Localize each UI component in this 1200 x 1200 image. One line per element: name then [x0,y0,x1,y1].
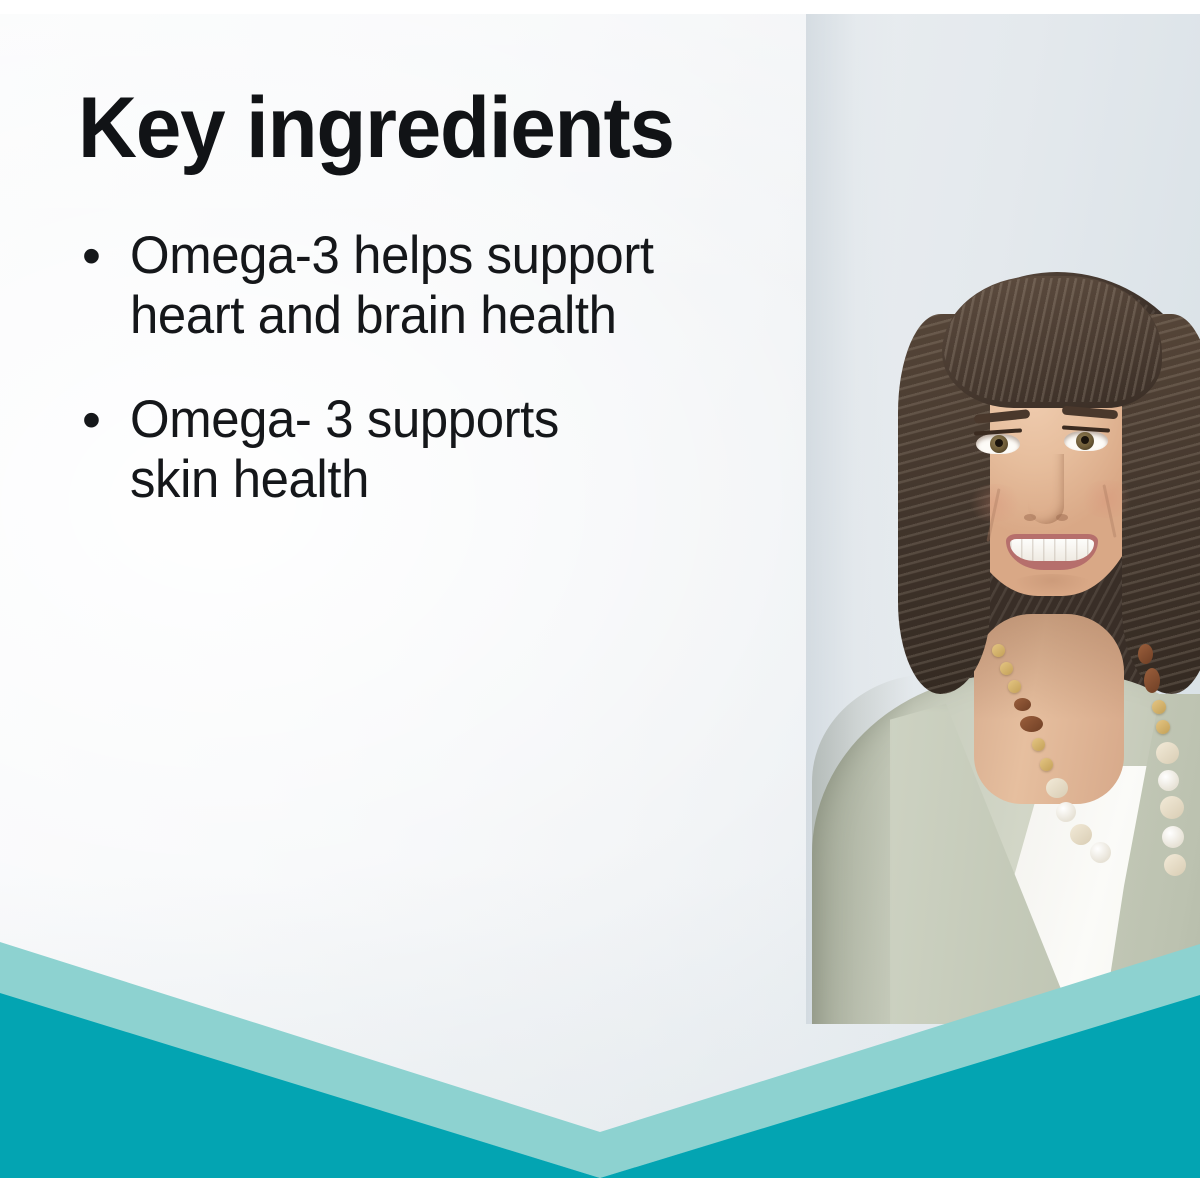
hair-fringe-texture [944,278,1160,402]
eye-left [976,434,1020,454]
text-block: Key ingredients • Omega-3 helps support … [78,86,878,510]
eye-right [1064,431,1108,451]
chin-shadow [1002,574,1102,608]
pupil-left [995,439,1003,447]
list-item: • Omega-3 helps support heart and brain … [78,226,878,346]
page-title: Key ingredients [78,86,838,170]
top-white-strip [0,0,1200,14]
nostril-left [1024,514,1036,521]
teeth-detail [1010,539,1094,561]
necklace [956,642,1196,922]
slide-canvas: Key ingredients • Omega-3 helps support … [0,0,1200,1200]
nostril-right [1056,514,1068,521]
list-item-label: Omega-3 helps support heart and brain he… [130,226,848,346]
list-item-label: Omega- 3 supports skin health [130,390,848,510]
key-ingredients-list: • Omega-3 helps support heart and brain … [78,226,878,510]
pupil-right [1081,436,1089,444]
list-item: • Omega- 3 supports skin health [78,390,878,510]
bottom-white-strip [0,1178,1200,1200]
bullet-dot-icon: • [78,226,130,286]
bullet-dot-icon: • [78,390,130,450]
